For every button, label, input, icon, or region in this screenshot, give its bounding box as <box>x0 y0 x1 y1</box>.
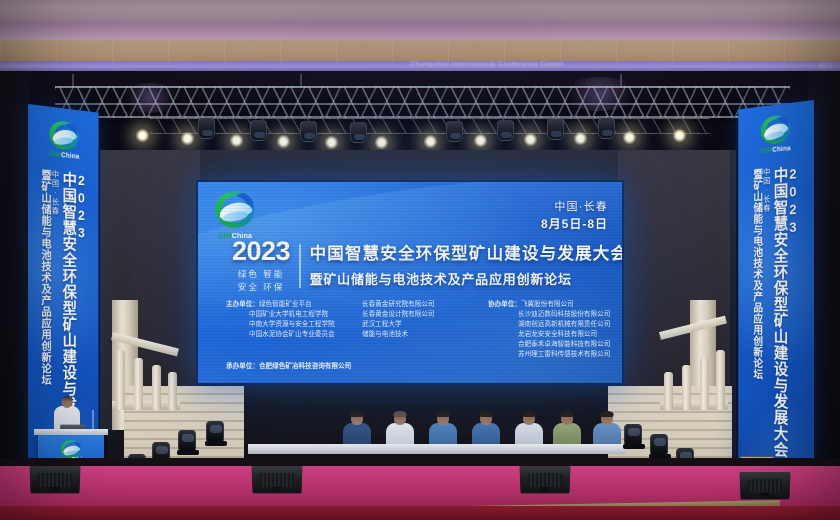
led-slogan-line1: 绿色 智能 <box>232 268 290 281</box>
balustrade-left <box>112 332 180 410</box>
stage-spotlight <box>324 135 339 150</box>
host2-org-0: 长春黄金研究院有限公司 <box>362 300 480 310</box>
co-label: 协办单位： <box>488 301 521 308</box>
stage-spotlight <box>180 131 195 146</box>
led-title-main: 中国智慧安全环保型矿山建设与发展大会 <box>310 244 622 265</box>
floor-moving-light <box>624 424 642 446</box>
overhead-exit-sign: 出口 <box>818 61 832 71</box>
stage-spotlight <box>374 135 389 150</box>
led-location: 中国·长春 <box>541 200 608 216</box>
stage-monitor-speaker <box>519 466 570 493</box>
host-org-2: 中南大学资源与安全工程学院 <box>226 320 354 330</box>
led-year-block: 2023 绿色 智能 安全 环保 <box>232 238 290 294</box>
banner-left-logo: GIMChina <box>44 118 84 161</box>
stage-spotlight <box>276 134 291 149</box>
stage-spotlight <box>423 134 438 149</box>
undertaker-label: 承办单位： <box>226 363 259 370</box>
conference-stage-photo: Changchun International Conference Cente… <box>0 0 840 520</box>
co-org-1: 长沙迪迈数码科技股份有限公司 <box>488 310 612 320</box>
organizers-host-col1: 主办单位：绿色智能矿业平台 中国矿业大学机电工程学院 中南大学资源与安全工程学院… <box>226 300 354 360</box>
floor-moving-light <box>178 430 196 452</box>
co-org-5: 苏州理工雷科传感技术有限公司 <box>488 350 612 360</box>
moving-head-light <box>250 120 267 141</box>
balustrade-right <box>660 332 728 410</box>
led-organizers: 主办单位：绿色智能矿业平台 中国矿业大学机电工程学院 中南大学资源与安全工程学院… <box>226 300 612 360</box>
co-org-0: 飞翼股份有限公司 <box>521 301 574 308</box>
stage-spotlight <box>473 133 488 148</box>
stage-monitor-speaker <box>29 466 80 493</box>
vertical-banner-right: GIMChina 2023 中国智慧安全环保型矿山建设与发展大会 中国·长春 暨… <box>738 100 814 504</box>
stage-spotlight <box>229 133 244 148</box>
banner-right-logo: GIMChina <box>756 112 796 155</box>
logo-text-gim: GIM <box>48 151 61 159</box>
banner-right-sub-title: 暨矿山储能与电池技术及产品应用创新论坛 <box>752 168 762 487</box>
stage-spotlight <box>135 128 150 143</box>
co-org-4: 合肥泰禾卓海智能科技有限公司 <box>488 340 612 350</box>
logo-text-china: China <box>61 152 79 161</box>
host2-org-1: 长春黄金设计院有限公司 <box>362 310 480 320</box>
floor-moving-light <box>206 421 224 443</box>
led-location-date: 中国·长春 8月5日-8日 <box>541 200 608 233</box>
stage-spotlight <box>672 128 687 143</box>
led-undertaker-row: 承办单位：合肥绿色矿冶科技咨询有限公司 <box>226 360 351 370</box>
banner-right-year: 2023 <box>786 165 799 492</box>
host-org-1: 中国矿业大学机电工程学院 <box>226 310 354 320</box>
led-screen: GIMChina 中国·长春 8月5日-8日 2023 绿色 智能 安全 环保 <box>196 180 624 385</box>
stage-spotlight <box>523 132 538 147</box>
stage-monitor-speaker <box>739 472 790 499</box>
led-title-block: 中国智慧安全环保型矿山建设与发展大会 暨矿山储能与电池技术及产品应用创新论坛 <box>310 244 622 288</box>
led-title-row: 2023 绿色 智能 安全 环保 中国智慧安全环保型矿山建设与发展大会 暨矿山储… <box>232 238 610 294</box>
moving-head-light <box>198 118 215 139</box>
logo-text-gim: GIM <box>218 233 232 240</box>
ceiling-uplight-glow <box>0 22 840 42</box>
led-slogan-line2: 安全 环保 <box>232 281 290 294</box>
hall-wall-left <box>0 72 30 520</box>
moving-head-light <box>350 122 367 143</box>
lighting-truss-main <box>55 86 790 118</box>
stage-spotlight <box>622 130 637 145</box>
moving-head-light <box>497 120 514 141</box>
led-year: 2023 <box>232 238 290 265</box>
floor-moving-light <box>650 434 668 456</box>
title-divider <box>299 244 301 288</box>
host2-org-2: 武汉工程大学 <box>362 320 480 330</box>
led-dates: 8月5日-8日 <box>541 216 608 233</box>
host-org-3: 中国水泥协会矿山专业委员会 <box>226 330 354 340</box>
host-org-0: 绿色智能矿业平台 <box>259 301 312 308</box>
co-org-2: 湖南创远高新机械有限责任公司 <box>488 320 612 330</box>
moving-head-light <box>547 119 564 140</box>
logo-text-gim: GIM <box>760 147 772 155</box>
logo-text-china: China <box>772 145 791 154</box>
moving-head-light <box>446 121 463 142</box>
banner-right-location: 中国·长春 <box>763 168 770 489</box>
stage-spotlight <box>573 131 588 146</box>
ceiling-cornice <box>0 40 840 62</box>
moving-head-light <box>300 121 317 142</box>
host-label: 主办单位： <box>226 301 259 308</box>
organizers-coorganizer-col: 协办单位：飞翼股份有限公司 长沙迪迈数码科技股份有限公司 湖南创远高新机械有限责… <box>488 300 612 360</box>
organizers-host-col2: 长春黄金研究院有限公司 长春黄金设计院有限公司 武汉工程大学 储能与电池技术 <box>362 300 480 360</box>
foreground-red-carpet <box>0 506 840 520</box>
banner-right-main-title: 中国智慧安全环保型矿山建设与发展大会 <box>771 166 786 490</box>
stage-monitor-speaker <box>251 466 302 493</box>
host2-org-3: 储能与电池技术 <box>362 330 480 340</box>
co-org-3: 龙岩龙安安全科技有限公司 <box>488 330 612 340</box>
led-title-sub: 暨矿山储能与电池技术及产品应用创新论坛 <box>310 269 622 288</box>
overhead-sign-text: Changchun International Conference Cente… <box>410 62 670 72</box>
moving-head-light <box>598 118 615 139</box>
undertaker-name: 合肥绿色矿冶科技咨询有限公司 <box>259 363 351 370</box>
led-gim-china-logo: GIMChina <box>208 190 262 240</box>
